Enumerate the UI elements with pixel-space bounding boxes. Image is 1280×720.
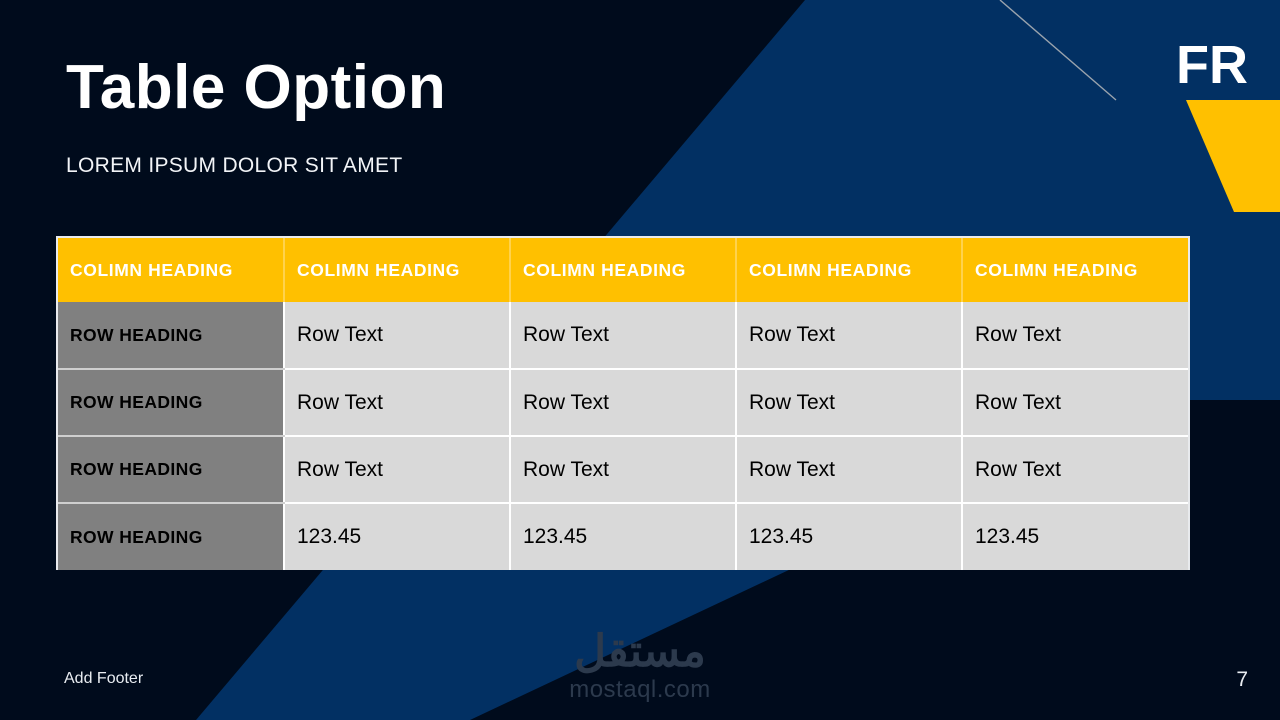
thin-diagonal-line [1000, 0, 1116, 100]
corner-brand-mark: FR [1176, 38, 1248, 92]
page-number: 7 [1236, 668, 1248, 692]
table-cell: Row Text [510, 369, 736, 436]
table-cell: Row Text [736, 302, 962, 369]
table-cell: Row Text [736, 436, 962, 503]
column-header-1[interactable]: COLIMN HEADING [58, 238, 284, 302]
table-cell: Row Text [510, 302, 736, 369]
table-row: ROW HEADING 123.45 123.45 123.45 123.45 [58, 503, 1188, 570]
footer-placeholder[interactable]: Add Footer [64, 670, 143, 688]
table-header-row: COLIMN HEADING COLIMN HEADING COLIMN HEA… [58, 238, 1188, 302]
watermark-arabic-text: مستقل [0, 630, 1280, 674]
table-cell: 123.45 [284, 503, 510, 570]
table-cell: 123.45 [736, 503, 962, 570]
data-table-container: COLIMN HEADING COLIMN HEADING COLIMN HEA… [56, 236, 1190, 570]
slide-canvas: Table Option LOREM IPSUM DOLOR SIT AMET … [0, 0, 1280, 720]
table-cell: 123.45 [962, 503, 1188, 570]
table-row: ROW HEADING Row Text Row Text Row Text R… [58, 302, 1188, 369]
data-table: COLIMN HEADING COLIMN HEADING COLIMN HEA… [58, 238, 1188, 570]
table-cell: Row Text [510, 436, 736, 503]
column-header-3[interactable]: COLIMN HEADING [510, 238, 736, 302]
row-heading: ROW HEADING [58, 302, 284, 369]
table-body: ROW HEADING Row Text Row Text Row Text R… [58, 302, 1188, 570]
table-cell: Row Text [962, 369, 1188, 436]
column-header-4[interactable]: COLIMN HEADING [736, 238, 962, 302]
watermark-latin-text: mostaql.com [0, 676, 1280, 705]
table-row: ROW HEADING Row Text Row Text Row Text R… [58, 436, 1188, 503]
row-heading: ROW HEADING [58, 503, 284, 570]
table-row: ROW HEADING Row Text Row Text Row Text R… [58, 369, 1188, 436]
row-heading: ROW HEADING [58, 436, 284, 503]
table-cell: Row Text [284, 302, 510, 369]
table-header: COLIMN HEADING COLIMN HEADING COLIMN HEA… [58, 238, 1188, 302]
watermark-logo: مستقل mostaql.com [0, 630, 1280, 705]
yellow-diagonal-stripe [1186, 100, 1280, 212]
page-title: Table Option [66, 57, 446, 119]
table-cell: 123.45 [510, 503, 736, 570]
table-cell: Row Text [284, 436, 510, 503]
page-subtitle: LOREM IPSUM DOLOR SIT AMET [66, 154, 402, 178]
column-header-5[interactable]: COLIMN HEADING [962, 238, 1188, 302]
row-heading: ROW HEADING [58, 369, 284, 436]
table-cell: Row Text [284, 369, 510, 436]
table-cell: Row Text [736, 369, 962, 436]
table-cell: Row Text [962, 302, 1188, 369]
table-cell: Row Text [962, 436, 1188, 503]
column-header-2[interactable]: COLIMN HEADING [284, 238, 510, 302]
